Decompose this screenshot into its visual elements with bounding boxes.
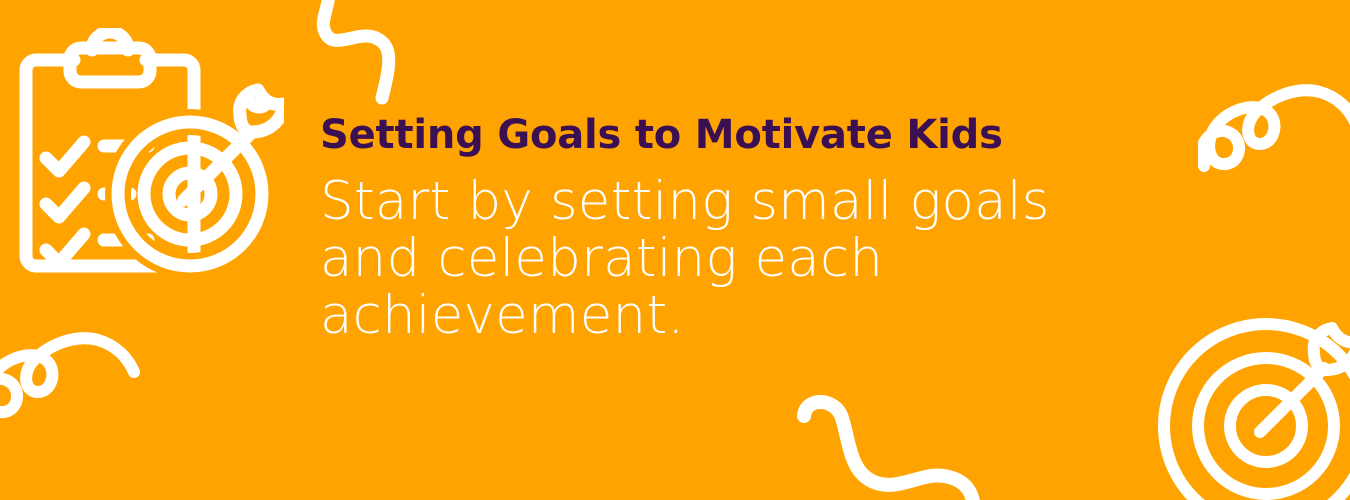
clipboard-checklist-target-icon (12, 28, 284, 296)
banner-text-block: Setting Goals to Motivate Kids Start by … (320, 112, 1200, 344)
page-title: Setting Goals to Motivate Kids (320, 112, 1200, 159)
promo-banner: Setting Goals to Motivate Kids Start by … (0, 0, 1350, 500)
squiggle-line-decoration (296, 0, 416, 106)
banner-subtitle: Start by setting small goals and celebra… (320, 159, 1160, 344)
squiggle-line-decoration (788, 388, 1008, 500)
curly-loop-decoration (0, 306, 141, 421)
curly-loop-decoration (1198, 58, 1350, 173)
